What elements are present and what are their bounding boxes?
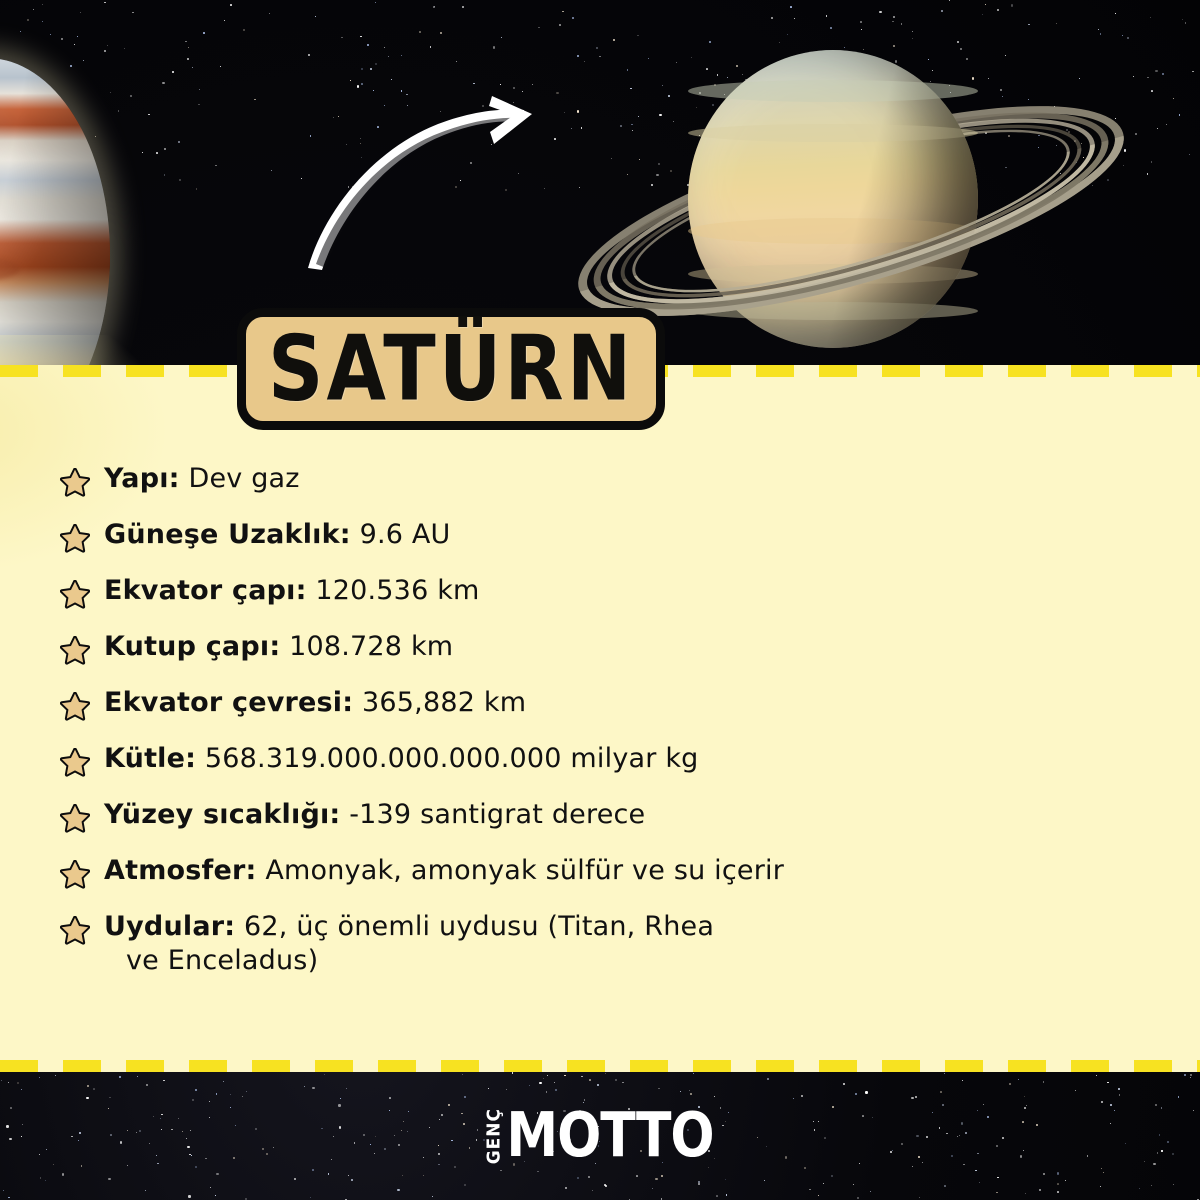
fact-row: Kutup çapı: 108.728 km [60, 630, 1150, 678]
star-bullet-icon [60, 860, 90, 890]
infographic-card: SATÜRN Yapı: Dev gazGüneşe Uzaklık: 9.6 … [0, 0, 1200, 1200]
star-bullet-icon [60, 692, 90, 722]
fact-value: 568.319.000.000.000.000 milyar kg [196, 743, 698, 774]
fact-text: Kutup çapı: 108.728 km [104, 630, 453, 664]
star-bullet-icon [60, 468, 90, 498]
fact-label: Kütle: [104, 743, 196, 774]
fact-row: Güneşe Uzaklık: 9.6 AU [60, 518, 1150, 566]
logo-motto-text: MOTTO [506, 1105, 713, 1166]
footer-bar: GENÇ MOTTO [0, 1072, 1200, 1200]
star-bullet-icon [60, 580, 90, 610]
saturn-planet-graphic [640, 42, 1060, 352]
fact-text: Yüzey sıcaklığı: -139 santigrat derece [104, 798, 645, 832]
fact-value: 62, üç önemli uydusu (Titan, Rhea [235, 911, 714, 942]
fact-text: Güneşe Uzaklık: 9.6 AU [104, 518, 451, 552]
fact-row: Yapı: Dev gaz [60, 462, 1150, 510]
fact-label: Ekvator çevresi: [104, 687, 353, 718]
brand-logo: GENÇ MOTTO [486, 1108, 713, 1164]
fact-value: 365,882 km [353, 687, 526, 718]
fact-value: 120.536 km [307, 575, 480, 606]
fact-text: Ekvator çevresi: 365,882 km [104, 686, 526, 720]
fact-value: Amonyak, amonyak sülfür ve su içerir [257, 855, 785, 886]
fact-value: 108.728 km [280, 631, 453, 662]
page-title: SATÜRN [268, 324, 634, 414]
fact-text: Uydular: 62, üç önemli uydusu (Titan, Rh… [104, 910, 714, 978]
fact-label: Güneşe Uzaklık: [104, 519, 351, 550]
fact-row: Uydular: 62, üç önemli uydusu (Titan, Rh… [60, 910, 1150, 1006]
fact-row: Ekvator çevresi: 365,882 km [60, 686, 1150, 734]
fact-row: Atmosfer: Amonyak, amonyak sülfür ve su … [60, 854, 1150, 902]
fact-label: Yapı: [104, 463, 180, 494]
star-bullet-icon [60, 916, 90, 946]
fact-row: Yüzey sıcaklığı: -139 santigrat derece [60, 798, 1150, 846]
title-badge: SATÜRN [237, 308, 665, 430]
fact-text: Kütle: 568.319.000.000.000.000 milyar kg [104, 742, 699, 776]
star-bullet-icon [60, 636, 90, 666]
curved-arrow-icon [286, 92, 554, 272]
fact-text: Yapı: Dev gaz [104, 462, 300, 496]
fact-list: Yapı: Dev gazGüneşe Uzaklık: 9.6 AUEkvat… [60, 462, 1150, 1014]
star-bullet-icon [60, 524, 90, 554]
fact-text: Atmosfer: Amonyak, amonyak sülfür ve su … [104, 854, 784, 888]
logo-genc-text: GENÇ [486, 1108, 504, 1164]
fact-label: Ekvator çapı: [104, 575, 307, 606]
star-bullet-icon [60, 804, 90, 834]
fact-label: Yüzey sıcaklığı: [104, 799, 340, 830]
fact-value: -139 santigrat derece [340, 799, 645, 830]
fact-value-line2: ve Enceladus) [104, 944, 714, 978]
fact-text: Ekvator çapı: 120.536 km [104, 574, 480, 608]
fact-label: Atmosfer: [104, 855, 257, 886]
fact-label: Kutup çapı: [104, 631, 280, 662]
fact-value: 9.6 AU [351, 519, 451, 550]
fact-row: Kütle: 568.319.000.000.000.000 milyar kg [60, 742, 1150, 790]
dashed-border-bottom [0, 1060, 1200, 1072]
star-bullet-icon [60, 748, 90, 778]
fact-value: Dev gaz [180, 463, 300, 494]
fact-label: Uydular: [104, 911, 235, 942]
fact-row: Ekvator çapı: 120.536 km [60, 574, 1150, 622]
